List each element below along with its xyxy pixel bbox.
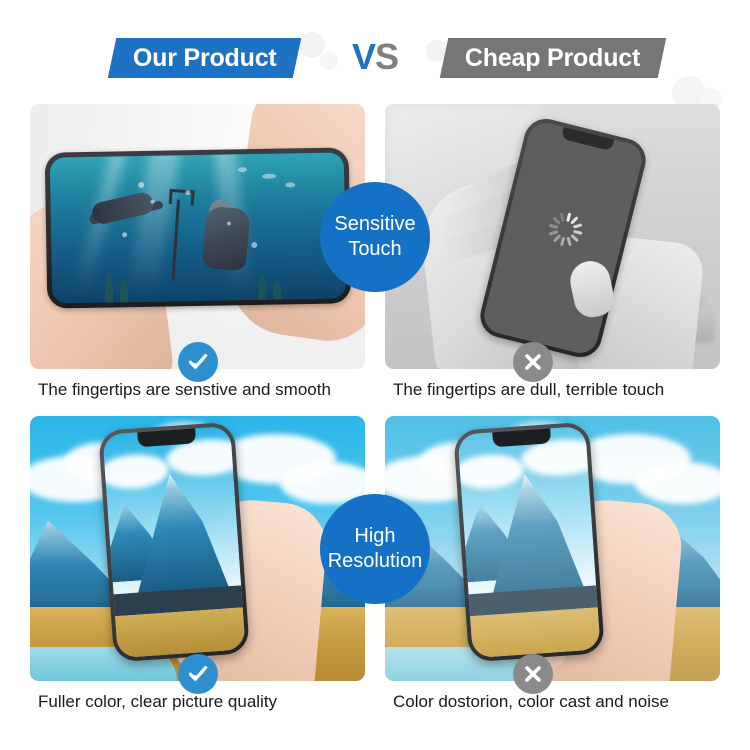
smartphone-portrait: [453, 422, 605, 663]
bubble: [122, 232, 127, 237]
cloud: [635, 462, 720, 504]
diver-main: [201, 205, 250, 271]
cross-circle-icon: [513, 654, 553, 694]
our-product-banner: Our Product: [108, 38, 302, 78]
badge-line-2: Resolution: [328, 549, 423, 574]
smartphone-landscape: [45, 147, 352, 308]
loading-spinner-icon: [544, 209, 585, 250]
cheap-product-resolution-photo: [385, 416, 720, 681]
badge-line-2: Touch: [348, 237, 401, 262]
trident-weapon: [172, 199, 181, 281]
versus-v: V: [352, 36, 375, 77]
our-product-resolution-caption: Fuller color, clear picture quality: [38, 692, 277, 712]
seaweed: [258, 274, 267, 304]
badge-line-1: High: [354, 524, 395, 549]
versus-s: S: [375, 36, 398, 77]
cheap-product-touch-caption: The fingertips are dull, terrible touch: [393, 380, 664, 400]
fish-silhouette: [262, 174, 276, 179]
cheap-product-banner: Cheap Product: [440, 38, 667, 78]
fish-silhouette: [238, 167, 247, 172]
feature-badge-high-resolution: High Resolution: [320, 494, 430, 604]
screen-grassland: [470, 607, 601, 658]
cheap-product-label: Cheap Product: [465, 44, 640, 73]
feature-badge-sensitive-touch: Sensitive Touch: [320, 182, 430, 292]
versus-label: VS: [352, 33, 398, 81]
phone-screen-mountain: [457, 426, 600, 658]
our-product-label: Our Product: [133, 44, 277, 73]
our-product-touch-photo: [30, 104, 365, 369]
seaweed: [120, 280, 128, 303]
badge-line-1: Sensitive: [334, 212, 415, 237]
feature-row-sensitive-touch: Sensitive Touch The fingertips are senst…: [0, 104, 750, 410]
bubble: [251, 242, 257, 248]
comparison-header: Our Product VS Cheap Product: [0, 0, 750, 96]
cross-circle-icon: [513, 342, 553, 382]
decorative-circle: [299, 32, 325, 58]
check-circle-icon: [178, 654, 218, 694]
phone-screen-mountain: [102, 426, 245, 658]
seaweed: [272, 282, 280, 304]
cheap-product-resolution-caption: Color dostorion, color cast and noise: [393, 692, 669, 712]
screen-grassland: [115, 607, 246, 658]
phone-screen-game: [50, 152, 347, 303]
our-product-touch-caption: The fingertips are senstive and smooth: [38, 380, 331, 400]
fish-silhouette: [285, 182, 295, 187]
cheap-product-touch-photo: [385, 104, 720, 369]
bubble: [150, 200, 154, 204]
our-product-resolution-photo: [30, 416, 365, 681]
decorative-circle: [320, 52, 338, 70]
feature-row-high-resolution: High Resolution Fuller color, clear pict…: [0, 416, 750, 726]
seaweed: [105, 272, 114, 303]
smartphone-portrait: [98, 422, 250, 663]
light-ray: [73, 152, 127, 296]
check-circle-icon: [178, 342, 218, 382]
